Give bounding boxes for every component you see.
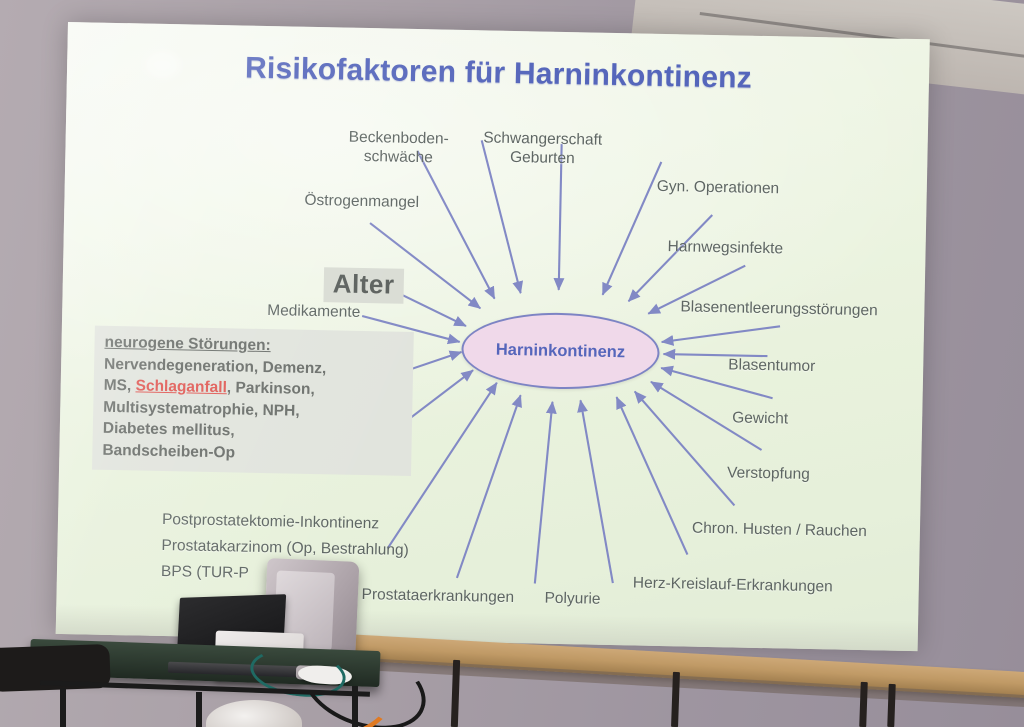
table-leg <box>887 684 895 727</box>
screenshot-root: Risikofaktoren für Harninkontinenz Becke… <box>0 0 1024 727</box>
label-oestrogenmangel: Östrogenmangel <box>304 191 419 212</box>
projection-screen: Risikofaktoren für Harninkontinenz Becke… <box>56 22 930 651</box>
label-beckenbodenschwaeche: Beckenboden- schwäche <box>333 127 464 168</box>
label-chron-husten-rauchen: Chron. Husten / Rauchen <box>692 519 867 542</box>
neurogenic-line-2-pre: MS, <box>104 377 136 395</box>
neurogenic-line-5: Bandscheiben-Op <box>102 439 402 467</box>
emphasis-box-alter: Alter <box>323 267 403 304</box>
highlight-schlaganfall: Schlaganfall <box>135 377 227 396</box>
presentation-slide: Risikofaktoren für Harninkontinenz Becke… <box>56 22 930 651</box>
label-line: Geburten <box>467 147 617 169</box>
label-schwangerschaft-geburten: Schwangerschaft Geburten <box>467 128 618 169</box>
center-node-label: Harninkontinenz <box>496 340 626 362</box>
label-gewicht: Gewicht <box>732 408 788 428</box>
label-polyurie: Polyurie <box>544 589 600 609</box>
desk-leg <box>352 686 358 727</box>
label-verstopfung: Verstopfung <box>727 463 810 484</box>
label-gyn-operationen: Gyn. Operationen <box>657 177 780 198</box>
label-line: schwäche <box>333 146 463 168</box>
neurogenic-disorders-box: neurogene Störungen: Nervendegeneration,… <box>92 326 414 476</box>
label-line: Schwangerschaft <box>468 128 618 150</box>
desk-leg <box>60 688 66 727</box>
label-line: Beckenboden- <box>334 127 464 149</box>
label-blasenentleerungsstoerungen: Blasenentleerungsstörungen <box>680 297 878 320</box>
label-herz-kreislauf-erkrankungen: Herz-Kreislauf-Erkrankungen <box>633 573 833 596</box>
label-medikamente: Medikamente <box>267 301 360 322</box>
neurogenic-line-2-post: , Parkinson, <box>227 379 315 398</box>
label-harnwegsinfekte: Harnwegsinfekte <box>667 237 783 258</box>
desk-leg <box>196 692 202 727</box>
label-blasentumor: Blasentumor <box>728 355 815 376</box>
